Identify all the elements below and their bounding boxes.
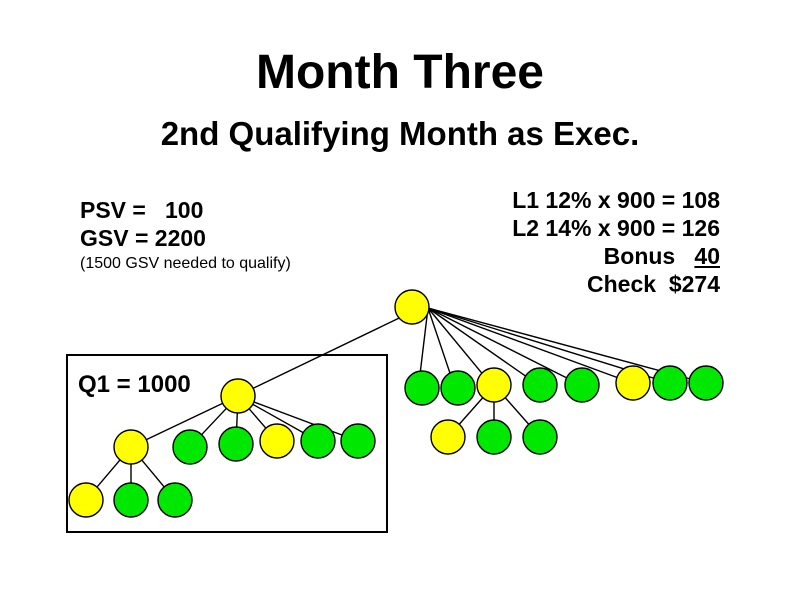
q1-group-label: Q1 = 1000: [78, 371, 191, 399]
tree-node-r8[interactable]: [689, 366, 723, 400]
bonus-amount: 40: [694, 243, 720, 269]
level1-commission-line: L1 12% x 900 = 108: [455, 186, 720, 214]
tree-edge: [504, 396, 530, 426]
tree-node-r3a[interactable]: [431, 420, 465, 454]
gsv-line: GSV = 2200: [80, 224, 291, 252]
page-subtitle: 2nd Qualifying Month as Exec.: [0, 115, 800, 153]
slide-canvas: Q1 = 1000 Month Three 2nd Qualifying Mon…: [0, 0, 800, 600]
tree-edge: [428, 308, 691, 379]
tree-node-r2[interactable]: [441, 371, 475, 405]
check-label: Check: [587, 271, 656, 297]
tree-edge: [428, 308, 527, 377]
page-title: Month Three: [0, 45, 800, 100]
tree-node-r4[interactable]: [523, 368, 557, 402]
tree-node-r5[interactable]: [565, 368, 599, 402]
commission-calculation-block: L1 12% x 900 = 108 L2 14% x 900 = 126 Bo…: [455, 186, 720, 298]
bonus-label: Bonus: [604, 243, 676, 269]
volume-stats-block: PSV = 100 GSV = 2200 (1500 GSV needed to…: [80, 196, 291, 274]
tree-node-r6[interactable]: [616, 366, 650, 400]
tree-node-r7[interactable]: [653, 366, 687, 400]
level2-commission-line: L2 14% x 900 = 126: [455, 214, 720, 242]
tree-node-r3b[interactable]: [477, 420, 511, 454]
tree-node-root[interactable]: [395, 290, 429, 324]
tree-node-r1[interactable]: [405, 371, 439, 405]
psv-line: PSV = 100: [80, 196, 291, 224]
qualify-note: (1500 GSV needed to qualify): [80, 254, 291, 274]
check-line: Check $274: [455, 270, 720, 298]
tree-node-r3[interactable]: [477, 368, 511, 402]
check-amount: $274: [669, 271, 720, 297]
bonus-line: Bonus 40: [455, 242, 720, 270]
tree-node-r3c[interactable]: [523, 420, 557, 454]
